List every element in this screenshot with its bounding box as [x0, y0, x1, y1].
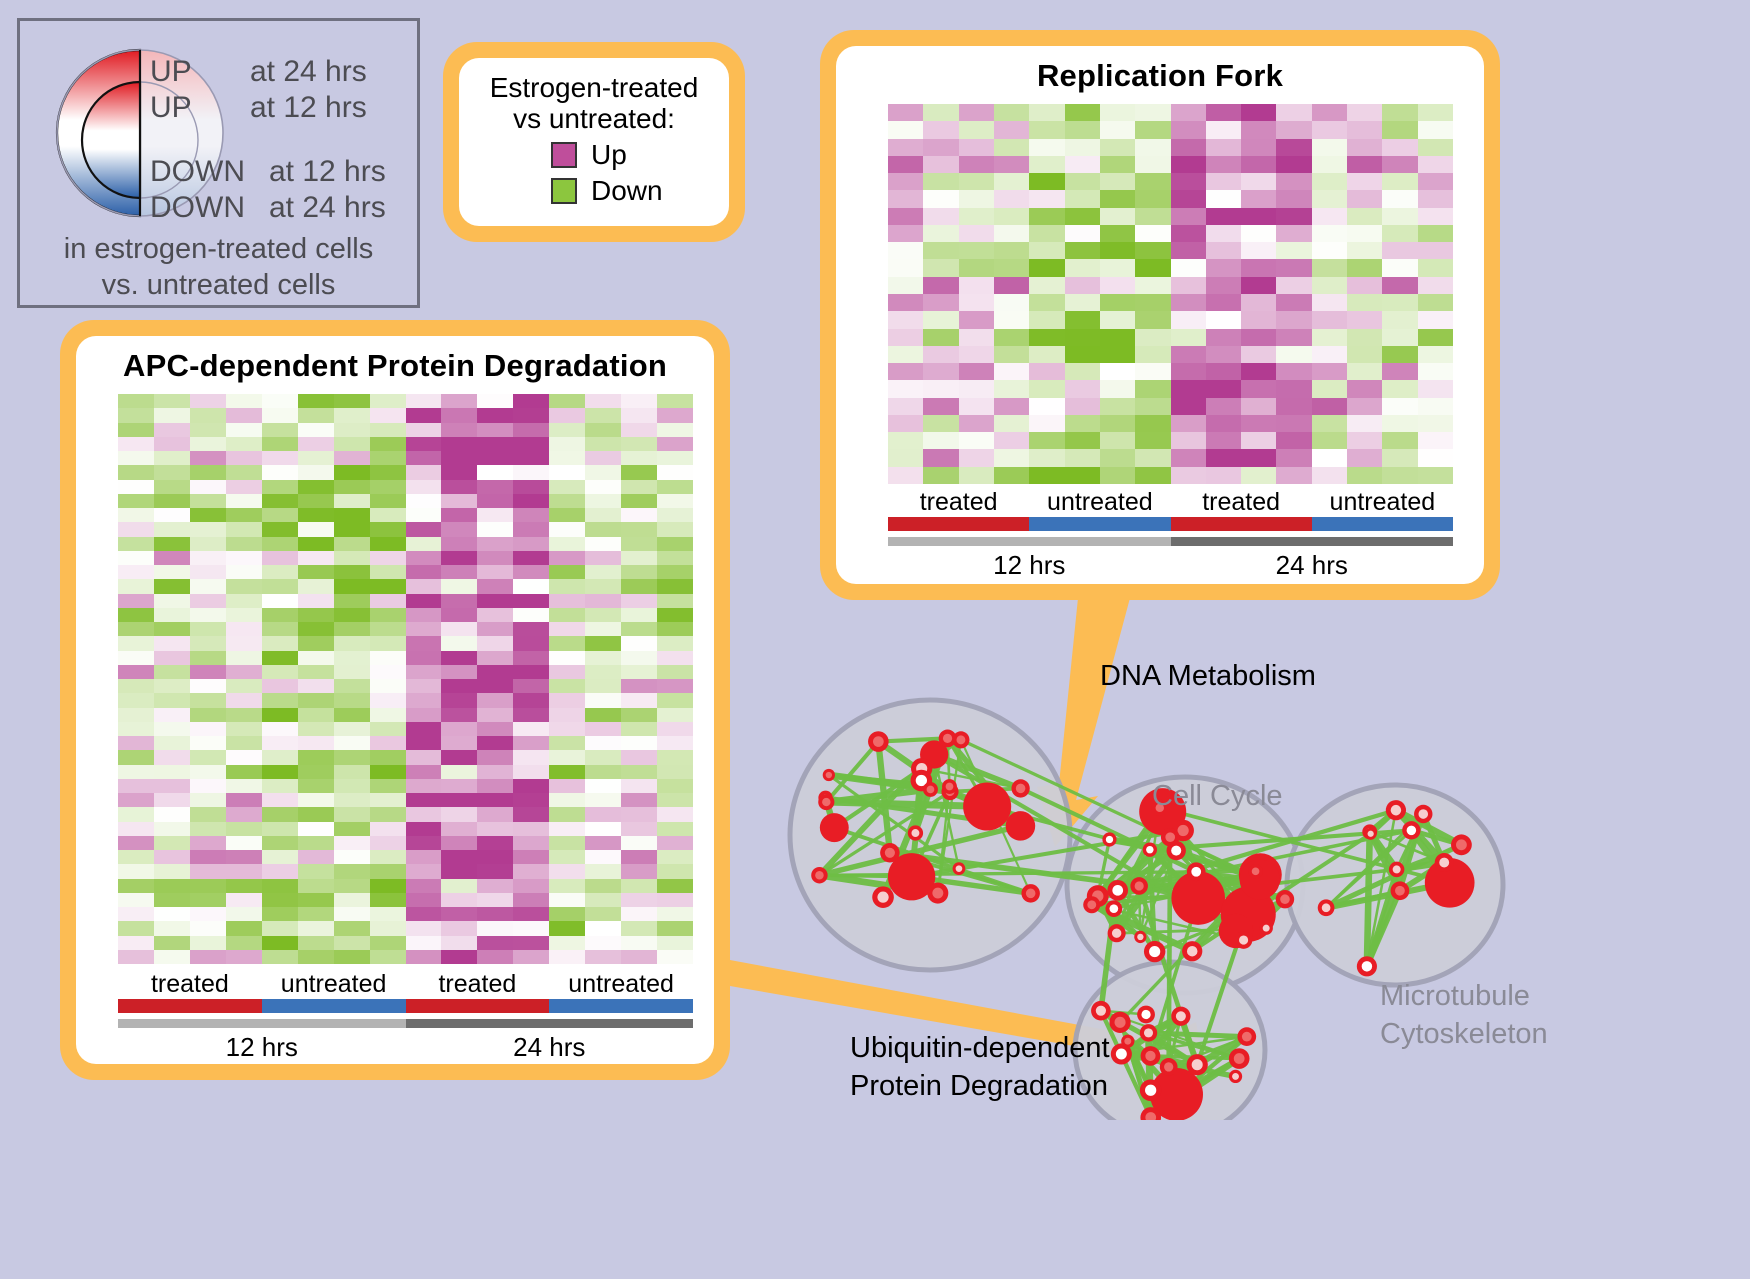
- heatmap-cell: [585, 708, 621, 722]
- heatmap-cell: [406, 708, 442, 722]
- heatmap-cell: [370, 879, 406, 893]
- heatmap-cell: [1135, 380, 1170, 397]
- heatmap-cell: [1065, 139, 1100, 156]
- heatmap-cell: [190, 708, 226, 722]
- heatmap-cell: [657, 736, 693, 750]
- heatmap-cell: [585, 822, 621, 836]
- heatmap-cell: [262, 579, 298, 593]
- heatmap-cell: [406, 736, 442, 750]
- legend-row-2-direction: DOWN: [150, 155, 245, 189]
- heatmap-cell: [994, 380, 1029, 397]
- heatmap-cell: [190, 779, 226, 793]
- heatmap-cell: [262, 636, 298, 650]
- heatmap-cell: [549, 565, 585, 579]
- heatmap-cell: [1206, 121, 1241, 138]
- network-node-core: [1252, 868, 1260, 876]
- heatmap-cell: [923, 398, 958, 415]
- heatmap-cell: [154, 423, 190, 437]
- heatmap-cell: [298, 779, 334, 793]
- heatmap-cell: [118, 879, 154, 893]
- heatmap-cell: [1312, 363, 1347, 380]
- apc-time-label-0: 12 hrs: [118, 1032, 406, 1063]
- network-node-core: [815, 871, 824, 880]
- heatmap-cell: [406, 879, 442, 893]
- network-node-core: [1115, 1017, 1126, 1028]
- heatmap-cell: [1206, 346, 1241, 363]
- heatmap-cell: [477, 793, 513, 807]
- heatmap-cell: [585, 537, 621, 551]
- heatmap-cell: [1418, 346, 1453, 363]
- heatmap-cell: [1029, 363, 1064, 380]
- heatmap-cell: [549, 579, 585, 593]
- network-node-core: [1418, 809, 1428, 819]
- heatmap-cell: [1135, 242, 1170, 259]
- heatmap-cell: [1206, 208, 1241, 225]
- heatmap-cell: [657, 750, 693, 764]
- heatmap-cell: [1418, 190, 1453, 207]
- heatmap-cell: [1241, 225, 1276, 242]
- heatmap-cell: [585, 665, 621, 679]
- heatmap-cell: [406, 765, 442, 779]
- heatmap-cell: [262, 907, 298, 921]
- heatmap-cell: [441, 408, 477, 422]
- heatmap-cell: [118, 551, 154, 565]
- heatmap-cell: [477, 864, 513, 878]
- heatmap-cell: [154, 708, 190, 722]
- heatmap-cell: [1171, 121, 1206, 138]
- heatmap-cell: [118, 665, 154, 679]
- heatmap-cell: [441, 679, 477, 693]
- heatmap-cell: [1347, 242, 1382, 259]
- network-node-core: [1112, 885, 1123, 896]
- heatmap-cell: [1276, 225, 1311, 242]
- heatmap-cell: [1276, 415, 1311, 432]
- heatmap-cell: [441, 665, 477, 679]
- heatmap-cell: [621, 822, 657, 836]
- heatmap-cell: [262, 893, 298, 907]
- heatmap-cell: [1276, 208, 1311, 225]
- heatmap-cell: [1206, 449, 1241, 466]
- cluster-label-ubiquitin-line2: Protein Degradation: [850, 1070, 1108, 1103]
- heatmap-cell: [118, 807, 154, 821]
- heatmap-cell: [1241, 156, 1276, 173]
- heatmap-cell: [513, 437, 549, 451]
- heatmap-cell: [513, 594, 549, 608]
- heatmap-cell: [1418, 449, 1453, 466]
- network-node-core: [1165, 832, 1175, 842]
- network-edge: [1169, 837, 1171, 1067]
- heatmap-cell: [959, 398, 994, 415]
- heatmap-cell: [1135, 346, 1170, 363]
- heatmap-cell: [1206, 294, 1241, 311]
- heatmap-cell: [334, 394, 370, 408]
- heatmap-cell: [585, 636, 621, 650]
- heatmap-cell: [190, 579, 226, 593]
- heatmap-cell: [1135, 449, 1170, 466]
- heatmap-cell: [190, 921, 226, 935]
- heatmap-cell: [334, 950, 370, 964]
- heatmap-cell: [190, 665, 226, 679]
- heatmap-cell: [441, 636, 477, 650]
- heatmap-cell: [549, 921, 585, 935]
- heatmap-cell: [888, 259, 923, 276]
- heatmap-cell: [441, 551, 477, 565]
- heatmap-cell: [1100, 467, 1135, 484]
- heatmap-cell: [154, 864, 190, 878]
- heatmap-cell: [513, 736, 549, 750]
- heatmap-cell: [657, 722, 693, 736]
- heatmap-cell: [334, 850, 370, 864]
- network-node: [963, 782, 1011, 830]
- heatmap-cell: [370, 494, 406, 508]
- heatmap-cell: [262, 679, 298, 693]
- heatmap-cell: [1276, 363, 1311, 380]
- heatmap-cell: [1312, 225, 1347, 242]
- heatmap-cell: [657, 636, 693, 650]
- heatmap-cell: [657, 693, 693, 707]
- heatmap-cell: [621, 708, 657, 722]
- network-node-core: [1164, 1062, 1173, 1071]
- heatmap-cell: [657, 807, 693, 821]
- heatmap-cell: [370, 807, 406, 821]
- heatmap-cell: [118, 408, 154, 422]
- network-node-core: [1362, 961, 1372, 971]
- heatmap-cell: [1171, 329, 1206, 346]
- heatmap-cell: [118, 950, 154, 964]
- network-node-core: [1146, 846, 1153, 853]
- heatmap-cell: [923, 346, 958, 363]
- heatmap-cell: [441, 750, 477, 764]
- heatmap-cell: [334, 708, 370, 722]
- heatmap-cell: [1312, 242, 1347, 259]
- heatmap-cell: [298, 921, 334, 935]
- heatmap-cell: [154, 936, 190, 950]
- heatmap-cell: [406, 864, 442, 878]
- heatmap-cell: [585, 423, 621, 437]
- heatmap-cell: [1276, 173, 1311, 190]
- heatmap-cell: [334, 608, 370, 622]
- heatmap-cell: [262, 793, 298, 807]
- heatmap-cell: [1135, 156, 1170, 173]
- heatmap-cell: [994, 225, 1029, 242]
- heatmap-cell: [1029, 467, 1064, 484]
- heatmap-cell: [1382, 277, 1417, 294]
- heatmap-cell: [226, 423, 262, 437]
- heatmap-cell: [888, 449, 923, 466]
- heatmap-cell: [477, 579, 513, 593]
- heatmap-cell: [262, 465, 298, 479]
- heatmap-cell: [1241, 398, 1276, 415]
- heatmap-cell: [298, 936, 334, 950]
- heatmap-cell: [513, 879, 549, 893]
- heatmap-cell: [513, 480, 549, 494]
- heatmap-cell: [298, 465, 334, 479]
- heatmap-cell: [1347, 346, 1382, 363]
- heatmap-cell: [298, 394, 334, 408]
- heatmap-cell: [549, 864, 585, 878]
- color-key-body: Estrogen-treated vs untreated: Up Down: [459, 58, 729, 207]
- network-node-core: [1242, 1032, 1252, 1042]
- heatmap-cell: [370, 864, 406, 878]
- heatmap-cell: [1171, 449, 1206, 466]
- heatmap-cell: [621, 451, 657, 465]
- heatmap-cell: [477, 921, 513, 935]
- network-node-core: [1439, 858, 1449, 868]
- heatmap-cell: [549, 708, 585, 722]
- heatmap-cell: [226, 565, 262, 579]
- heatmap-cell: [549, 622, 585, 636]
- heatmap-cell: [1382, 173, 1417, 190]
- heatmap-cell: [513, 950, 549, 964]
- heatmap-cell: [657, 594, 693, 608]
- heatmap-cell: [657, 437, 693, 451]
- heatmap-cell: [1276, 242, 1311, 259]
- heatmap-cell: [226, 608, 262, 622]
- heatmap-cell: [585, 622, 621, 636]
- heatmap-cell: [657, 394, 693, 408]
- heatmap-cell: [154, 679, 190, 693]
- heatmap-cell: [1206, 277, 1241, 294]
- heatmap-cell: [441, 608, 477, 622]
- heatmap-cell: [959, 208, 994, 225]
- heatmap-cell: [477, 950, 513, 964]
- heatmap-cell: [190, 651, 226, 665]
- heatmap-cell: [154, 836, 190, 850]
- heatmap-cell: [959, 156, 994, 173]
- apc-group-label-0: treated: [118, 970, 262, 999]
- heatmap-cell: [370, 551, 406, 565]
- heatmap-cell: [513, 579, 549, 593]
- heatmap-cell: [585, 779, 621, 793]
- heatmap-cell: [585, 594, 621, 608]
- heatmap-cell: [298, 522, 334, 536]
- heatmap-cell: [621, 480, 657, 494]
- heatmap-cell: [441, 480, 477, 494]
- heatmap-cell: [1206, 190, 1241, 207]
- heatmap-cell: [585, 651, 621, 665]
- heatmap-cell: [923, 156, 958, 173]
- heatmap-cell: [923, 242, 958, 259]
- heatmap-cell: [262, 822, 298, 836]
- heatmap-cell: [441, 537, 477, 551]
- heatmap-cell: [1065, 380, 1100, 397]
- heatmap-cell: [406, 508, 442, 522]
- heatmap-cell: [888, 346, 923, 363]
- heatmap-cell: [262, 765, 298, 779]
- heatmap-cell: [923, 208, 958, 225]
- heatmap-cell: [441, 494, 477, 508]
- heatmap-cell: [923, 121, 958, 138]
- heatmap-cell: [477, 936, 513, 950]
- heatmap-cell: [657, 822, 693, 836]
- heatmap-cell: [190, 722, 226, 736]
- heatmap-cell: [1382, 449, 1417, 466]
- heatmap-cell: [1382, 432, 1417, 449]
- heatmap-cell: [621, 579, 657, 593]
- heatmap-cell: [118, 850, 154, 864]
- heatmap-cell: [657, 765, 693, 779]
- heatmap-cell: [513, 508, 549, 522]
- heatmap-cell: [370, 508, 406, 522]
- heatmap-cell: [441, 879, 477, 893]
- heatmap-cell: [1347, 415, 1382, 432]
- heatmap-cell: [585, 408, 621, 422]
- heatmap-cell: [334, 579, 370, 593]
- heatmap-cell: [923, 415, 958, 432]
- heatmap-cell: [994, 467, 1029, 484]
- heatmap-cell: [226, 537, 262, 551]
- network-node-core: [826, 772, 832, 778]
- heatmap-cell: [154, 551, 190, 565]
- heatmap-cell: [585, 850, 621, 864]
- heatmap-cell: [370, 822, 406, 836]
- heatmap-cell: [888, 242, 923, 259]
- heatmap-cell: [513, 651, 549, 665]
- heatmap-cell: [154, 522, 190, 536]
- heatmap-cell: [1100, 121, 1135, 138]
- heatmap-cell: [549, 750, 585, 764]
- network-node-core: [956, 865, 963, 872]
- group-bar-untreated: [1312, 517, 1453, 531]
- heatmap-cell: [1418, 329, 1453, 346]
- heatmap-cell: [1171, 346, 1206, 363]
- heatmap-cell: [513, 722, 549, 736]
- network-node-core: [927, 786, 935, 794]
- heatmap-cell: [298, 765, 334, 779]
- legend-footer: in estrogen-treated cells vs. untreated …: [20, 231, 417, 304]
- heatmap-cell: [1241, 277, 1276, 294]
- heatmap-cell: [1206, 432, 1241, 449]
- heatmap-cell: [994, 121, 1029, 138]
- heatmap-cell: [226, 693, 262, 707]
- heatmap-cell: [513, 793, 549, 807]
- heatmap-cell: [1100, 294, 1135, 311]
- heatmap-cell: [118, 522, 154, 536]
- heatmap-cell: [262, 451, 298, 465]
- heatmap-cell: [406, 750, 442, 764]
- heatmap-cell: [1065, 156, 1100, 173]
- heatmap-cell: [549, 423, 585, 437]
- heatmap-cell: [226, 579, 262, 593]
- heatmap-cell: [334, 451, 370, 465]
- heatmap-cell: [406, 537, 442, 551]
- heatmap-cell: [226, 508, 262, 522]
- heatmap-cell: [1418, 398, 1453, 415]
- heatmap-cell: [262, 850, 298, 864]
- heatmap-cell: [1312, 190, 1347, 207]
- heatmap-cell: [1382, 346, 1417, 363]
- heatmap-cell: [1312, 398, 1347, 415]
- heatmap-cell: [1418, 225, 1453, 242]
- heatmap-cell: [118, 750, 154, 764]
- heatmap-cell: [154, 779, 190, 793]
- heatmap-cell: [190, 836, 226, 850]
- heatmap-cell: [1312, 432, 1347, 449]
- heatmap-cell: [621, 437, 657, 451]
- heatmap-cell: [226, 665, 262, 679]
- heatmap-cell: [370, 921, 406, 935]
- heatmap-cell: [118, 893, 154, 907]
- heatmap-cell: [226, 465, 262, 479]
- heatmap-cell: [959, 363, 994, 380]
- heatmap-cell: [1135, 139, 1170, 156]
- up-label: Up: [591, 139, 627, 171]
- heatmap-cell: [1312, 121, 1347, 138]
- heatmap-cell: [1135, 225, 1170, 242]
- network-node-core: [1391, 805, 1402, 816]
- heatmap-cell: [1135, 104, 1170, 121]
- heatmap-cell: [298, 679, 334, 693]
- heatmap-cell: [1276, 104, 1311, 121]
- heatmap-cell: [549, 636, 585, 650]
- heatmap-cell: [226, 836, 262, 850]
- heatmap-cell: [226, 736, 262, 750]
- time-bar-12-hrs: [888, 537, 1171, 546]
- heatmap-cell: [441, 822, 477, 836]
- heatmap-cell: [1276, 329, 1311, 346]
- heatmap-cell: [621, 551, 657, 565]
- heatmap-cell: [1347, 329, 1382, 346]
- heatmap-cell: [190, 893, 226, 907]
- heatmap-cell: [923, 432, 958, 449]
- heatmap-cell: [1418, 208, 1453, 225]
- heatmap-cell: [477, 665, 513, 679]
- heatmap-cell: [262, 394, 298, 408]
- heatmap-cell: [334, 693, 370, 707]
- heatmap-cell: [1276, 259, 1311, 276]
- heatmap-cell: [1100, 329, 1135, 346]
- heatmap-cell: [441, 522, 477, 536]
- network-node-core: [911, 829, 919, 837]
- heatmap-cell: [477, 594, 513, 608]
- heatmap-cell: [1382, 398, 1417, 415]
- heatmap-cell: [118, 451, 154, 465]
- heatmap-cell: [226, 864, 262, 878]
- down-color-swatch: [551, 178, 577, 204]
- heatmap-cell: [190, 437, 226, 451]
- heatmap-cell: [477, 651, 513, 665]
- heatmap-cell: [549, 936, 585, 950]
- heatmap-cell: [298, 608, 334, 622]
- heatmap-cell: [262, 508, 298, 522]
- replication-fork-group-labels: treated untreated treated untreated: [888, 488, 1453, 517]
- heatmap-cell: [1276, 398, 1311, 415]
- network-node-core: [1263, 925, 1270, 932]
- heatmap-cell: [549, 508, 585, 522]
- heatmap-cell: [1347, 277, 1382, 294]
- heatmap-cell: [334, 494, 370, 508]
- heatmap-cell: [154, 736, 190, 750]
- heatmap-cell: [1312, 277, 1347, 294]
- heatmap-cell: [1029, 156, 1064, 173]
- heatmap-cell: [1171, 139, 1206, 156]
- heatmap-cell: [370, 622, 406, 636]
- heatmap-cell: [298, 494, 334, 508]
- heatmap-cell: [370, 565, 406, 579]
- heatmap-cell: [621, 693, 657, 707]
- heatmap-cell: [1382, 311, 1417, 328]
- heatmap-cell: [406, 921, 442, 935]
- heatmap-cell: [549, 551, 585, 565]
- heatmap-cell: [1347, 311, 1382, 328]
- heatmap-cell: [477, 708, 513, 722]
- heatmap-cell: [1276, 449, 1311, 466]
- up-color-swatch: [551, 142, 577, 168]
- heatmap-cell: [621, 594, 657, 608]
- heatmap-cell: [1276, 294, 1311, 311]
- heatmap-cell: [959, 242, 994, 259]
- heatmap-cell: [959, 380, 994, 397]
